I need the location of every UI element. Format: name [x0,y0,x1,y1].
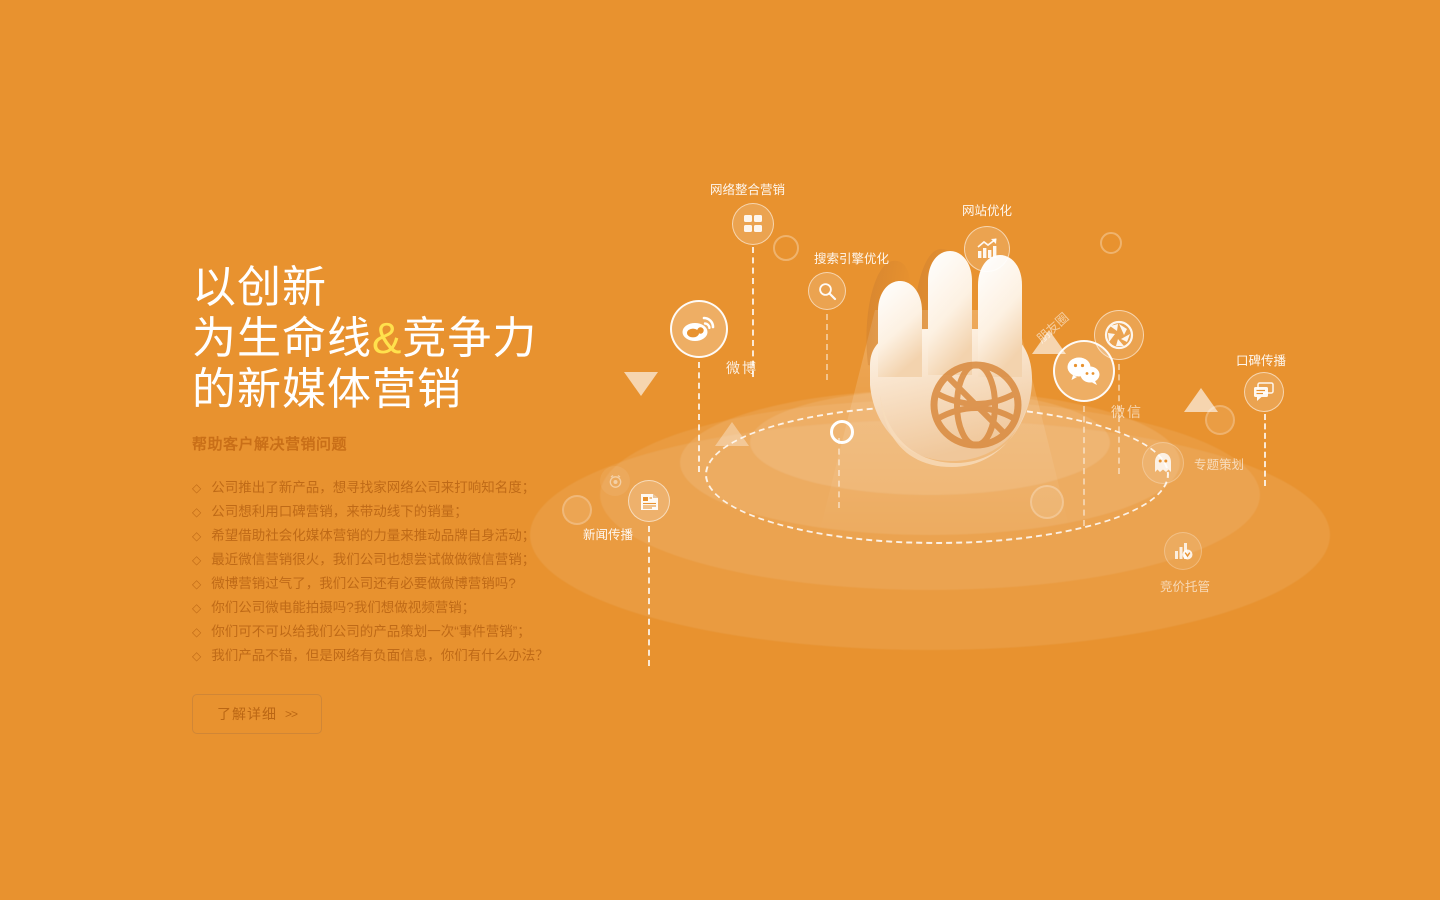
triangle-down-decor [624,372,658,396]
ring-marker-center [830,420,854,444]
list-item-label: 公司想利用口碑营销，来带动线下的销量； [211,500,468,524]
newspaper-icon [628,480,670,522]
circle-decor-5 [1030,485,1064,519]
chart-coin-icon [1164,532,1202,570]
node-stem-word-of-mouth [1264,414,1266,486]
node-stem-wechat [1083,406,1085,526]
circle-decor-2 [1100,232,1122,254]
node-stem-weibo [698,362,700,472]
node-stem-seo [826,314,828,380]
node-label-integrated-marketing: 网络整合营销 [710,179,785,198]
learn-more-button[interactable]: 了解详细 >> [192,694,322,734]
grid-icon [732,203,774,245]
learn-more-label: 了解详细 [217,704,277,724]
bar-chart-up-icon [964,226,1010,272]
list-item-label: 微博营销过气了，我们公司还有必要做微博营销吗? [211,572,516,596]
node-label-wechat: 微信 [1111,402,1143,422]
diamond-bullet-icon: ◇ [192,596,201,620]
list-item-label: 我们产品不错，但是网络有负面信息，你们有什么办法？ [211,644,549,668]
diamond-bullet-icon: ◇ [192,620,201,644]
magnifier-icon [808,272,846,310]
list-item-label: 公司推出了新产品，想寻找家网络公司来打响知名度； [211,476,535,500]
diamond-bullet-icon: ◇ [192,476,201,500]
headline-ampersand: & [372,314,402,363]
node-label-weibo: 微博 [726,358,758,378]
triangle-up-decor-mid [715,422,749,446]
node-label-news-spread: 新闻传播 [583,524,633,543]
diamond-bullet-icon: ◇ [192,500,201,524]
list-item-label: 你们公司微电能拍摄吗?我们想做视频营销； [211,596,475,620]
diamond-bullet-icon: ◇ [192,548,201,572]
node-label-site-optimization: 网站优化 [962,200,1012,219]
hand-globe-illustration [840,245,1030,495]
node-label-bid-hosting: 竞价托管 [1160,576,1210,595]
chevron-right-icon: >> [285,707,297,721]
node-label-topic-planning: 专题策划 [1194,454,1244,473]
weibo-icon [670,300,728,358]
circle-decor-1 [773,235,799,261]
list-item-label: 最近微信营销很火，我们公司也想尝试做做微信营销； [211,548,535,572]
circle-decor-4 [562,495,592,525]
node-label-word-of-mouth: 口碑传播 [1236,350,1286,369]
alarm-clock-icon-faint [600,466,630,496]
node-stem-news-spread [648,526,650,666]
triangle-up-decor-right [1032,330,1066,354]
ring-marker-stem [838,438,840,508]
hero-banner: 以创新 为生命线&竞争力 的新媒体营销 帮助客户解决营销问题 ◇公司推出了新产品… [0,0,1440,900]
list-item-label: 希望借助社会化媒体营销的力量来推动品牌自身活动； [211,524,535,548]
headline-line-2-part-a: 为生命线 [192,314,372,363]
marketing-diagram: 网络整合营销 搜索引擎优化 [520,60,1440,780]
diamond-bullet-icon: ◇ [192,572,201,596]
list-item-label: 你们可不可以给我们公司的产品策划一次“事件营销”； [211,620,531,644]
chat-windows-icon [1244,372,1284,412]
circle-decor-3 [1205,405,1235,435]
headline-line-2-part-b: 竞争力 [402,314,537,363]
diamond-bullet-icon: ◇ [192,644,201,668]
ghost-icon [1142,442,1184,484]
node-label-seo: 搜索引擎优化 [814,248,889,267]
diamond-bullet-icon: ◇ [192,524,201,548]
